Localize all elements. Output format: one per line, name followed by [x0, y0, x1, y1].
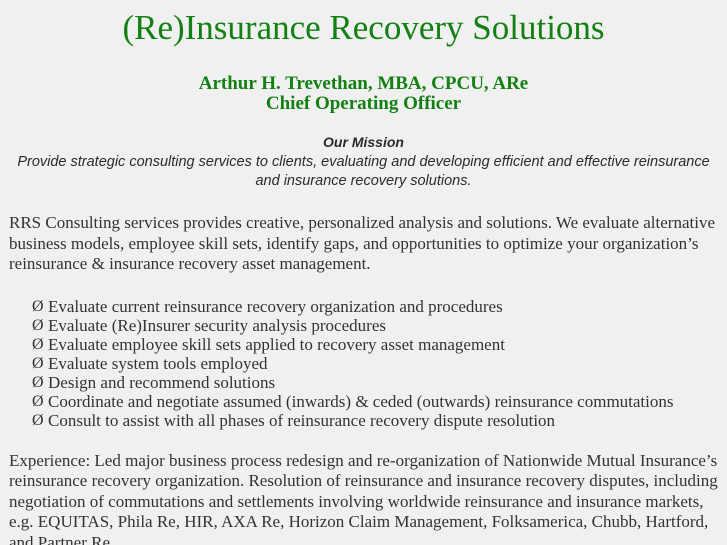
list-item-label: Design and recommend solutions — [48, 373, 275, 392]
list-item-label: Evaluate (Re)Insurer security analysis p… — [48, 316, 386, 335]
mission-heading: Our Mission — [0, 134, 727, 151]
bullet-o-slash-icon: Ø — [32, 316, 44, 335]
list-item-label: Evaluate employee skill sets applied to … — [48, 335, 505, 354]
bullet-o-slash-icon: Ø — [32, 297, 44, 316]
list-item-label: Evaluate system tools employed — [48, 354, 268, 373]
page-title: (Re)Insurance Recovery Solutions — [0, 0, 727, 48]
list-item: Ø Evaluate (Re)Insurer security analysis… — [0, 316, 727, 335]
mission-section: Our Mission Provide strategic consulting… — [0, 134, 727, 191]
page-root: (Re)Insurance Recovery Solutions Arthur … — [0, 0, 727, 545]
bullet-o-slash-icon: Ø — [32, 354, 44, 373]
intro-paragraph: RRS Consulting services provides creativ… — [0, 213, 727, 275]
experience-paragraph: Experience: Led major business process r… — [0, 451, 727, 545]
list-item-label: Coordinate and negotiate assumed (inward… — [48, 392, 674, 411]
bullet-o-slash-icon: Ø — [32, 335, 44, 354]
services-list: Ø Evaluate current reinsurance recovery … — [0, 297, 727, 430]
list-item-label: Consult to assist with all phases of rei… — [48, 411, 555, 430]
mission-statement: Provide strategic consulting services to… — [14, 153, 714, 191]
list-item: Ø Evaluate employee skill sets applied t… — [0, 335, 727, 354]
list-item-label: Evaluate current reinsurance recovery or… — [48, 297, 503, 316]
list-item: Ø Evaluate system tools employed — [0, 354, 727, 373]
person-name: Arthur H. Trevethan, MBA, CPCU, ARe — [0, 74, 727, 94]
list-item: Ø Design and recommend solutions — [0, 373, 727, 392]
person-block: Arthur H. Trevethan, MBA, CPCU, ARe Chie… — [0, 74, 727, 114]
bullet-o-slash-icon: Ø — [32, 411, 44, 430]
bullet-o-slash-icon: Ø — [32, 373, 44, 392]
list-item: Ø Consult to assist with all phases of r… — [0, 411, 727, 430]
person-role: Chief Operating Officer — [0, 94, 727, 114]
list-item: Ø Evaluate current reinsurance recovery … — [0, 297, 727, 316]
bullet-o-slash-icon: Ø — [32, 392, 44, 411]
list-item: Ø Coordinate and negotiate assumed (inwa… — [0, 392, 727, 411]
